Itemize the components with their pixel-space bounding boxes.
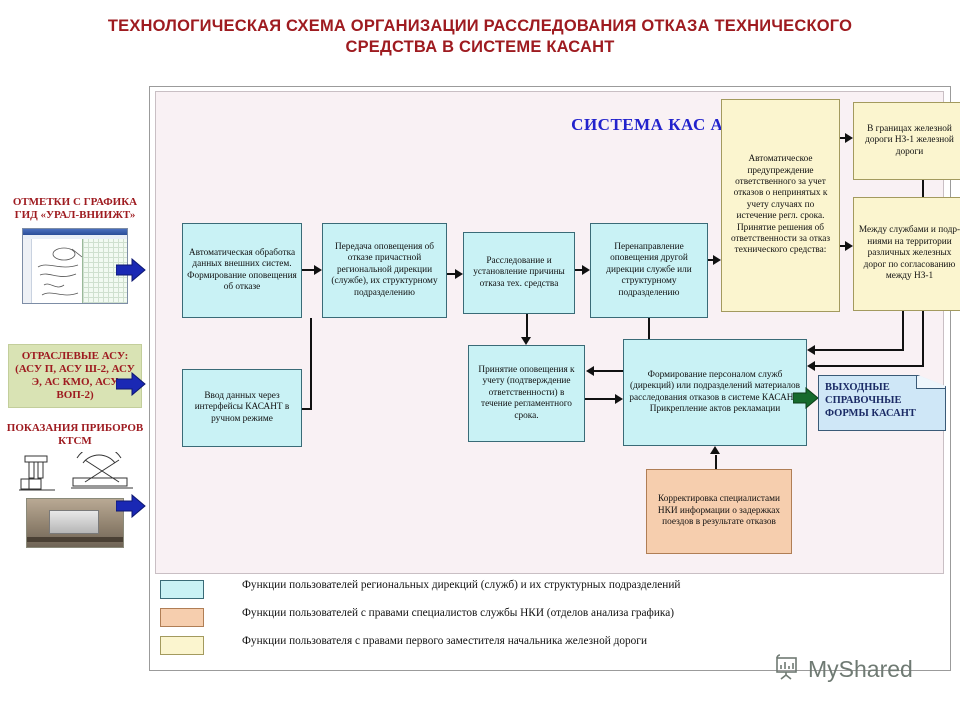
legend-row: Функции пользователя с правами первого з… [160, 634, 860, 662]
connector-arrowhead [582, 265, 590, 275]
output-forms-document[interactable]: ВЫХОДНЫЕ СПРАВОЧНЫЕ ФОРМЫ КАСАНТ [818, 375, 946, 431]
output-arrow-icon [793, 387, 819, 409]
process-box-manual-input[interactable]: Ввод данных через интерфейсы КАСАНТ в ру… [182, 369, 302, 447]
connector-arrowhead [586, 366, 594, 376]
legend-swatch-orange [160, 608, 204, 627]
connector [310, 318, 312, 408]
connector-arrowhead [845, 133, 853, 143]
process-box-investigation[interactable]: Расследование и установление причины отк… [463, 232, 575, 314]
legend: Функции пользователей региональных дирек… [160, 578, 860, 662]
connector-arrowhead [521, 337, 531, 345]
process-box-redirect-notification[interactable]: Перенаправление оповещения другой дирекц… [590, 223, 708, 318]
input-label-ktsm: ПОКАЗАНИЯ ПРИБОРОВ КТСМ [0, 422, 150, 448]
connector [815, 365, 924, 367]
process-box-nki-correction[interactable]: Корректировка специалистами НКИ информац… [646, 469, 792, 554]
connector-arrowhead [807, 345, 815, 355]
input-arrow-3-icon [116, 494, 146, 518]
watermark: MyShared [772, 652, 913, 687]
connector [575, 269, 582, 271]
input-arrow-1-icon [116, 258, 146, 282]
connector-arrowhead [713, 255, 721, 265]
connector [526, 314, 528, 337]
watermark-label: MyShared [808, 656, 913, 683]
input-item-gid: ОТМЕТКИ С ГРАФИКА ГИД «УРАЛ-ВНИИЖТ» [0, 196, 150, 304]
legend-label-yellow: Функции пользователя с правами первого з… [242, 635, 647, 647]
process-box-auto-warning-decision[interactable]: Автоматическое предупреждение ответствен… [721, 99, 840, 312]
process-box-notification-transfer[interactable]: Передача оповещения об отказе причастной… [322, 223, 447, 318]
connector [302, 269, 314, 271]
connector-arrowhead [455, 269, 463, 279]
connector [585, 398, 615, 400]
connector-arrowhead [845, 241, 853, 251]
process-box-form-materials[interactable]: Формирование персоналом служб (дирекций)… [623, 339, 807, 446]
input-arrow-2-icon [116, 372, 146, 396]
connector [815, 349, 904, 351]
legend-swatch-blue [160, 580, 204, 599]
connector [902, 311, 904, 349]
connector-arrowhead [615, 394, 623, 404]
process-box-accept-notification[interactable]: Принятие оповещения к учету (подтвержден… [468, 345, 585, 442]
connector-arrowhead [710, 446, 720, 454]
ktsm-photo [26, 498, 124, 548]
legend-row: Функции пользователей региональных дирек… [160, 578, 860, 606]
process-box-within-railway[interactable]: В границах железной дороги НЗ-1 железной… [853, 102, 960, 180]
legend-label-orange: Функции пользователей с правами специали… [242, 607, 674, 619]
legend-label-blue: Функции пользователей региональных дирек… [242, 579, 680, 591]
presentation-board-icon [772, 652, 802, 687]
input-item-ktsm: ПОКАЗАНИЯ ПРИБОРОВ КТСМ [0, 422, 150, 548]
page-title: ТЕХНОЛОГИЧЕСКАЯ СХЕМА ОРГАНИЗАЦИИ РАССЛЕ… [95, 16, 865, 58]
connector-arrowhead [314, 265, 322, 275]
process-box-auto-processing[interactable]: Автоматическая обработка данных внешних … [182, 223, 302, 318]
legend-row: Функции пользователей с правами специали… [160, 606, 860, 634]
process-box-between-services[interactable]: Между службами и подр-ниями на территори… [853, 197, 960, 311]
output-forms-label: ВЫХОДНЫЕ СПРАВОЧНЫЕ ФОРМЫ КАСАНТ [825, 382, 916, 419]
connector-arrowhead [807, 361, 815, 371]
slide-canvas: ТЕХНОЛОГИЧЕСКАЯ СХЕМА ОРГАНИЗАЦИИ РАССЛЕ… [0, 0, 960, 720]
gid-screenshot-thumbnail [22, 228, 128, 304]
legend-swatch-yellow [160, 636, 204, 655]
input-label-gid: ОТМЕТКИ С ГРАФИКА ГИД «УРАЛ-ВНИИЖТ» [0, 196, 150, 222]
connector [447, 273, 455, 275]
connector [302, 408, 312, 410]
